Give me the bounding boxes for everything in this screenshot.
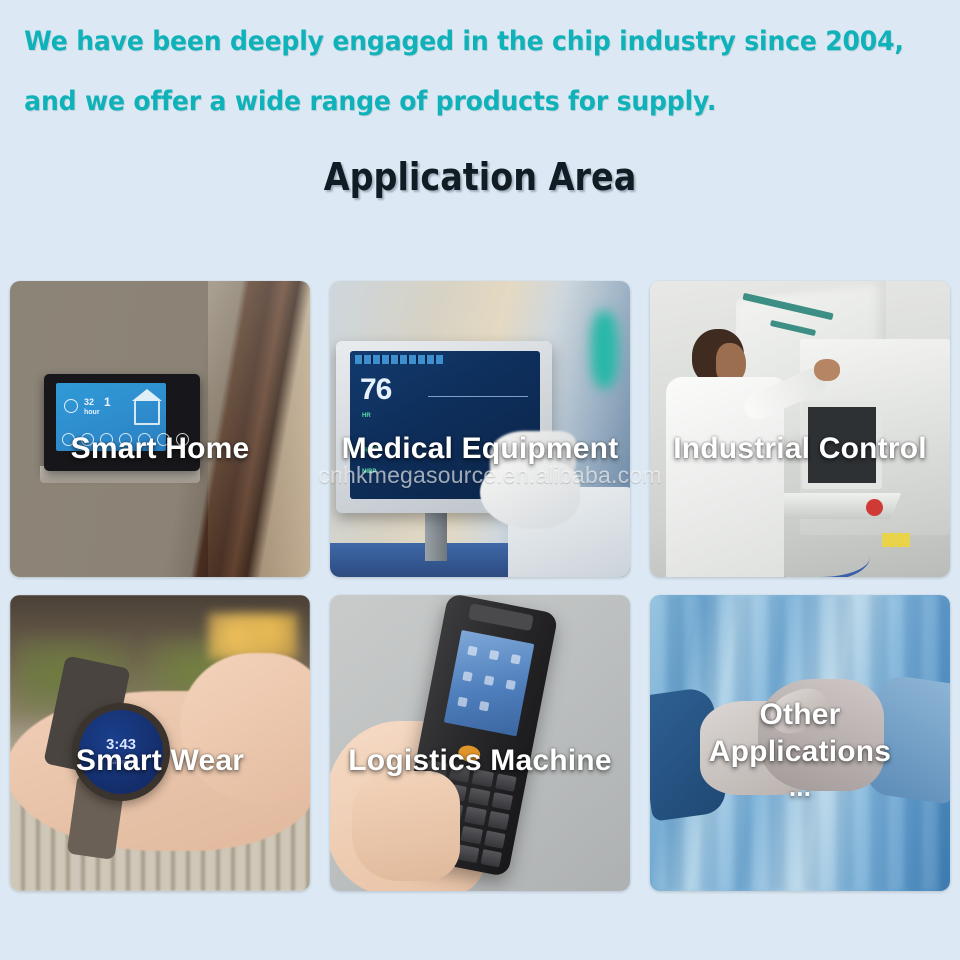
mode-value: 1 [104, 395, 111, 409]
scanner-screen [444, 630, 535, 736]
fingers [352, 771, 460, 881]
green-label-3: NIBP [362, 469, 376, 475]
doorway-glow [208, 281, 310, 577]
card-label-line2: Applications [650, 736, 950, 768]
card-label: Medical Equipment [330, 433, 630, 465]
temp-value: 32 [84, 397, 94, 407]
card-label-line1: Other [650, 699, 950, 731]
banner: We have been deeply engaged in the chip … [0, 0, 960, 115]
card-label: Smart Home [10, 433, 310, 465]
operator-hand [814, 359, 840, 381]
ecg-topbar [355, 355, 443, 364]
app-icon-5 [484, 675, 495, 686]
sun-icon [64, 399, 78, 413]
app-icon-4 [462, 671, 473, 682]
card-label-line3: ... [650, 773, 950, 801]
medical-scene: 76 HR SpO2 NIBP [330, 281, 630, 577]
app-icon-2 [489, 650, 500, 661]
app-icon-1 [467, 646, 478, 657]
key [491, 792, 513, 811]
key [487, 811, 509, 830]
smart-home-scene: 32 hour 1 [10, 281, 310, 577]
temp-sub: hour [84, 409, 100, 416]
logistics-scene [330, 595, 630, 891]
app-icon-7 [457, 697, 468, 708]
monitor-stand [425, 513, 447, 561]
card-industrial-control[interactable]: Industrial Control [650, 281, 950, 577]
banner-line-2: and we offer a wide range of products fo… [0, 55, 893, 115]
card-label: Logistics Machine [330, 745, 630, 777]
waveform-line [428, 396, 528, 397]
industrial-scene [650, 281, 950, 577]
card-label: Smart Wear [10, 745, 310, 777]
blue-cable [770, 533, 870, 577]
banner-line-1: We have been deeply engaged in the chip … [0, 18, 893, 55]
gloved-hand-icon [480, 459, 580, 529]
card-medical-equipment[interactable]: 76 HR SpO2 NIBP Medical Equipment [330, 281, 630, 577]
teal-accent [591, 311, 618, 388]
card-label: Industrial Control [650, 433, 950, 465]
card-other-applications[interactable]: Other Applications ... [650, 595, 950, 891]
app-icon-3 [510, 654, 521, 665]
yellow-label [882, 533, 910, 547]
page-title: Application Area [58, 155, 903, 199]
scanner-head [468, 603, 534, 631]
key [484, 830, 506, 849]
card-logistics-machine[interactable]: Logistics Machine [330, 595, 630, 891]
app-icon-8 [479, 701, 490, 712]
key [480, 849, 502, 868]
key [461, 825, 483, 844]
application-area-grid: 32 hour 1 Smart Home [10, 281, 950, 891]
emergency-stop-button [866, 499, 883, 516]
key [457, 844, 479, 863]
card-smart-home[interactable]: 32 hour 1 Smart Home [10, 281, 310, 577]
smart-wear-scene: 3:43 Saturday [10, 595, 310, 891]
app-icon-6 [505, 680, 516, 691]
key [464, 807, 486, 826]
house-icon [134, 401, 160, 425]
key [468, 788, 490, 807]
card-smart-wear[interactable]: 3:43 Saturday Smart Wear [10, 595, 310, 891]
green-label-1: HR [362, 413, 371, 419]
vital-reading: 76 [360, 373, 391, 407]
